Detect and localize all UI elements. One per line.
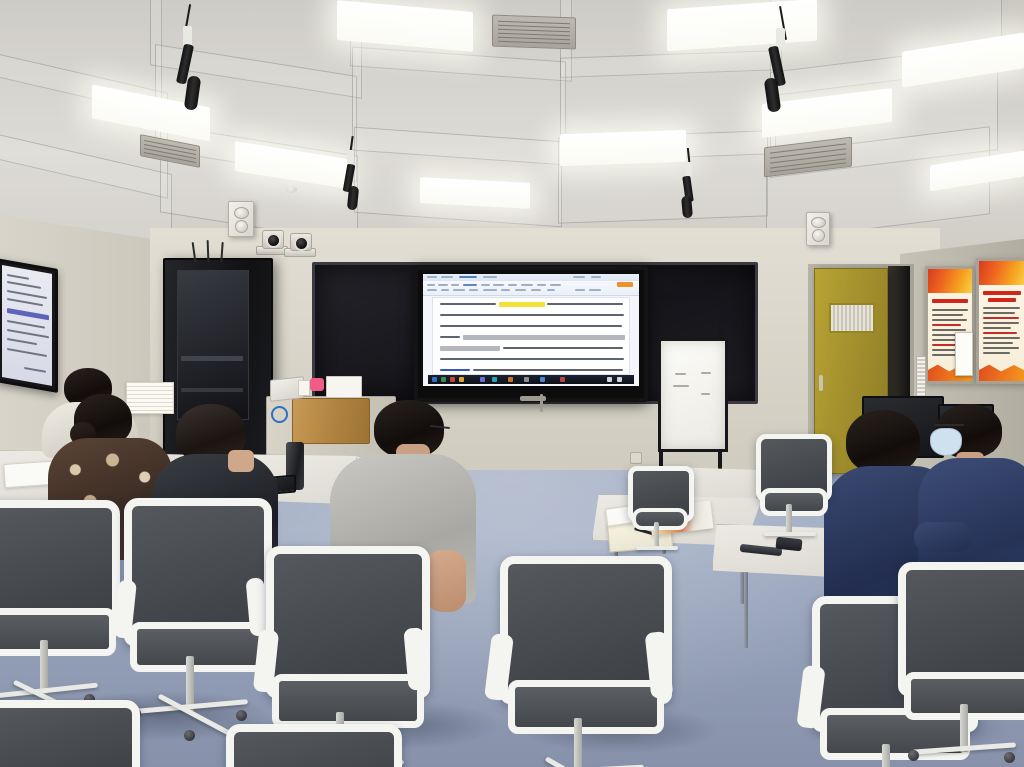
system-tray-icon[interactable]	[607, 377, 612, 382]
windows-taskbar[interactable]	[428, 375, 634, 384]
taskbar-icon[interactable]	[459, 377, 464, 382]
poster-header-banner	[979, 261, 1024, 285]
system-tray-icon[interactable]	[617, 377, 622, 382]
taskbar-icon[interactable]	[441, 377, 446, 382]
taskbar-icon[interactable]	[508, 377, 513, 382]
led-panel-light	[560, 130, 686, 166]
door-window	[829, 303, 875, 333]
podium-papers	[326, 376, 362, 398]
posted-flyer	[955, 332, 973, 376]
display-cable	[540, 394, 543, 412]
door-handle[interactable]	[819, 375, 823, 391]
document-page[interactable]	[432, 297, 630, 375]
rack-glass-door[interactable]	[177, 270, 249, 420]
stacked-papers	[126, 382, 174, 414]
interactive-flat-panel-display[interactable]	[414, 266, 648, 402]
meeting-room-photo	[0, 0, 1024, 767]
face-mask	[930, 428, 962, 456]
poster-title-bar	[983, 291, 1022, 295]
orange-action-button[interactable]	[617, 282, 633, 287]
wall-notice-board-right	[976, 258, 1024, 384]
display-screen[interactable]	[423, 274, 639, 386]
mobile-whiteboard-easel[interactable]	[655, 286, 725, 486]
whiteboard-surface[interactable]	[658, 338, 728, 452]
remote-control-secondary[interactable]	[775, 537, 802, 552]
poster-wave-graphic	[979, 361, 1024, 381]
taskbar-icon[interactable]	[480, 377, 485, 382]
taskbar-icon[interactable]	[450, 377, 455, 382]
side-wall-monitor[interactable]	[0, 258, 58, 393]
taskbar-icon[interactable]	[560, 377, 565, 382]
wall-speaker	[228, 201, 254, 237]
pink-item	[310, 378, 324, 391]
app-ribbon-toolbar[interactable]	[423, 281, 639, 296]
poster-header-banner	[928, 269, 972, 293]
eyeglasses	[934, 424, 964, 426]
taskbar-icon[interactable]	[432, 377, 437, 382]
small-box	[298, 380, 310, 396]
podium-logo	[271, 406, 288, 423]
poster-title-bar	[932, 299, 969, 303]
air-diffuser-vent	[492, 15, 576, 50]
poster-subtitle-bar	[988, 298, 1016, 302]
smoke-detector	[286, 186, 297, 193]
taskbar-icon[interactable]	[540, 377, 545, 382]
taskbar-icon[interactable]	[524, 377, 529, 382]
taskbar-icon[interactable]	[492, 377, 497, 382]
wall-speaker	[806, 212, 830, 246]
side-wall-monitor-screen	[2, 265, 52, 386]
wall-socket[interactable]	[630, 452, 642, 464]
